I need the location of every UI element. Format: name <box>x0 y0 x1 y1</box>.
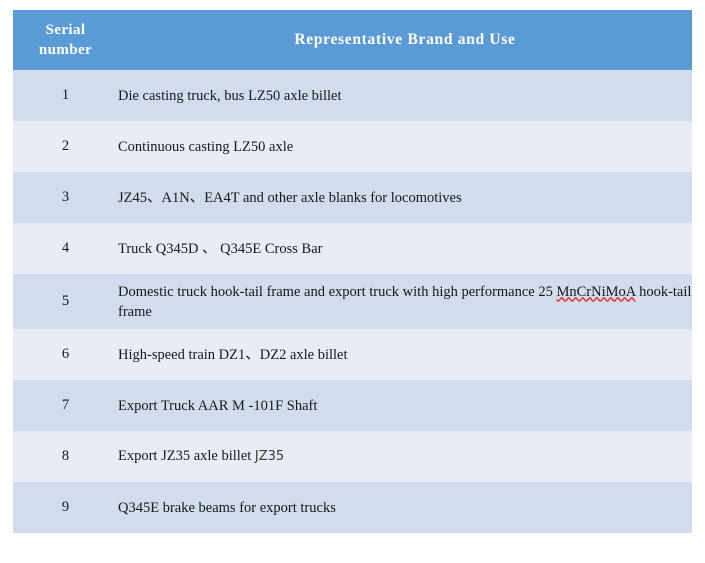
cell-serial-number: 7 <box>13 380 118 431</box>
table-row: 1 Die casting truck, bus LZ50 axle bille… <box>13 70 692 121</box>
cell-serial-number: 4 <box>13 223 118 274</box>
cell-serial-number: 3 <box>13 172 118 223</box>
cell-serial-number: 2 <box>13 121 118 172</box>
cell-brand-and-use: Export Truck AAR M -101F Shaft <box>118 380 692 431</box>
table-row: 6 High-speed train DZ1、DZ2 axle billet <box>13 329 692 380</box>
table-row: 8 Export JZ35 axle billet JZ35 <box>13 431 692 482</box>
table-row: 4 Truck Q345D 、 Q345E Cross Bar <box>13 223 692 274</box>
cell-serial-number: 9 <box>13 482 118 533</box>
cell-brand-and-use: Die casting truck, bus LZ50 axle billet <box>118 70 692 121</box>
table-row: 7 Export Truck AAR M -101F Shaft <box>13 380 692 431</box>
cell-brand-and-use: Truck Q345D 、 Q345E Cross Bar <box>118 223 692 274</box>
column-header-serial-number: Serial number <box>13 10 118 70</box>
cell-serial-number: 8 <box>13 431 118 482</box>
table-row: 9 Q345E brake beams for export trucks <box>13 482 692 533</box>
brand-text-misspelled: MnCrNiMoA <box>556 284 635 300</box>
cell-brand-and-use: JZ45、A1N、EA4T and other axle blanks for … <box>118 172 692 223</box>
brand-text-segment: Domestic truck hook-tail frame and expor… <box>118 284 556 300</box>
representative-brand-table: Serial number Representative Brand and U… <box>13 10 692 533</box>
brand-text-alt-font: JZ35 <box>255 449 284 464</box>
table-row: 3 JZ45、A1N、EA4T and other axle blanks fo… <box>13 172 692 223</box>
table-header: Serial number Representative Brand and U… <box>13 10 692 70</box>
brand-text-segment: Export JZ35 axle billet <box>118 448 255 464</box>
column-header-representative-brand-and-use: Representative Brand and Use <box>118 10 692 70</box>
cell-brand-and-use: Domestic truck hook-tail frame and expor… <box>118 274 692 329</box>
cell-brand-and-use: Continuous casting LZ50 axle <box>118 121 692 172</box>
serial-header-line-2: number <box>13 40 118 60</box>
cell-brand-and-use: High-speed train DZ1、DZ2 axle billet <box>118 329 692 380</box>
cell-serial-number: 6 <box>13 329 118 380</box>
table-row: 2 Continuous casting LZ50 axle <box>13 121 692 172</box>
document-page: Serial number Representative Brand and U… <box>0 0 705 563</box>
table-body: 1 Die casting truck, bus LZ50 axle bille… <box>13 70 692 533</box>
table-header-row: Serial number Representative Brand and U… <box>13 10 692 70</box>
serial-header-line-1: Serial <box>13 20 118 40</box>
cell-brand-and-use: Q345E brake beams for export trucks <box>118 482 692 533</box>
table-row: 5 Domestic truck hook-tail frame and exp… <box>13 274 692 329</box>
cell-serial-number: 1 <box>13 70 118 121</box>
cell-serial-number: 5 <box>13 274 118 329</box>
cell-brand-and-use: Export JZ35 axle billet JZ35 <box>118 431 692 482</box>
